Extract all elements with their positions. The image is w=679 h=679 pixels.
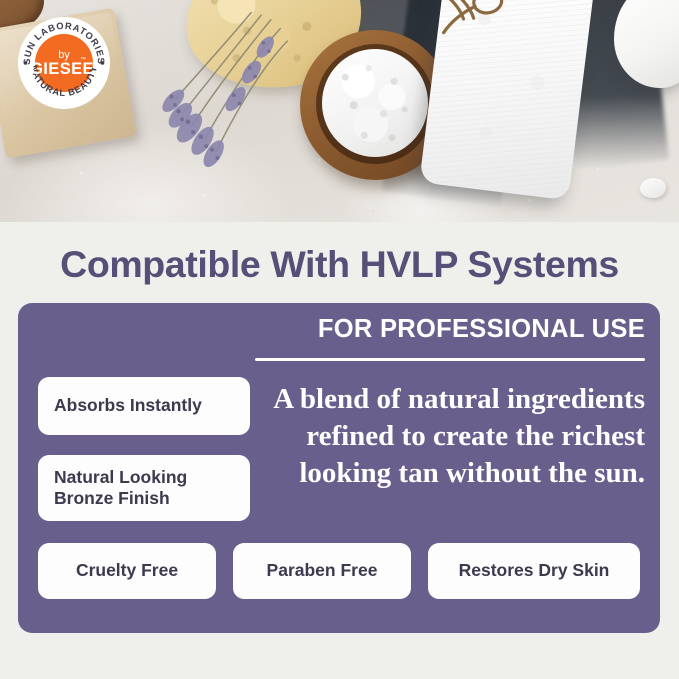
feature-pill-paraben-free[interactable]: Paraben Free	[233, 543, 411, 599]
features-panel: FOR PROFESSIONAL USE A blend of natural …	[18, 303, 660, 633]
feature-pill-cruelty-free[interactable]: Cruelty Free	[38, 543, 216, 599]
bowl-interior	[316, 44, 434, 164]
logo-dot-left	[24, 61, 28, 65]
feature-pill-absorbs-instantly[interactable]: Absorbs Instantly	[38, 377, 250, 435]
feature-pill-restores-dry-skin[interactable]: Restores Dry Skin	[428, 543, 640, 599]
lavender-sprigs-icon	[144, 5, 295, 179]
brand-logo[interactable]: SUN LABORATORIES NATURAL BEAUTY by GIESE…	[17, 16, 111, 110]
feature-pill-natural-looking-bronze-finish[interactable]: Natural Looking Bronze Finish	[38, 455, 250, 521]
lavender-bundle	[144, 5, 295, 179]
logo-trademark-symbol: ™	[80, 56, 86, 63]
product-feature-poster: SUN LABORATORIES NATURAL BEAUTY by GIESE…	[0, 0, 679, 679]
panel-right-column: FOR PROFESSIONAL USE A blend of natural …	[255, 315, 645, 491]
pebble	[640, 178, 666, 198]
product-description: A blend of natural ingredients refined t…	[255, 381, 645, 491]
title-divider	[255, 358, 645, 361]
professional-use-title: FOR PROFESSIONAL USE	[255, 315, 645, 344]
logo-dot-right	[101, 61, 105, 65]
sun-laboratories-giesee-logo-icon: SUN LABORATORIES NATURAL BEAUTY by GIESE…	[17, 16, 111, 110]
bath-salt	[322, 49, 428, 157]
page-title: Compatible With HVLP Systems	[0, 243, 679, 286]
